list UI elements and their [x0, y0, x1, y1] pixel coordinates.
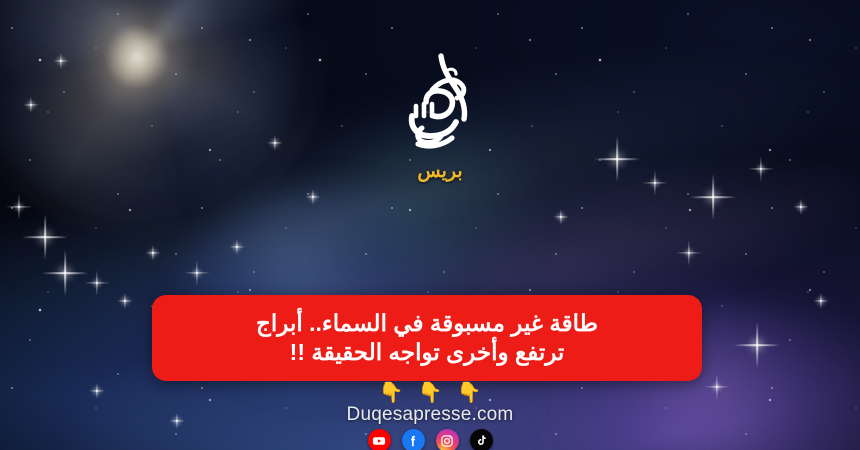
- bright-star: [30, 104, 32, 106]
- headline-line-2: ترتفع وأخرى تواجه الحقيقة !!: [290, 338, 565, 367]
- bright-star: [152, 252, 154, 254]
- bright-star: [756, 344, 758, 346]
- facebook-icon: [406, 434, 420, 448]
- social-link-instagram[interactable]: [436, 429, 459, 450]
- headline-line-1: طاقة غير مسبوقة في السماء.. أبراج: [256, 309, 598, 338]
- bright-star: [616, 158, 618, 160]
- bright-star: [60, 60, 62, 62]
- pointing-down-icon: 👇: [418, 383, 443, 403]
- bright-star: [712, 196, 714, 198]
- footer: 👇 👇 👇 Duqesapresse.com: [0, 383, 860, 450]
- pointing-down-hands: 👇 👇 👇: [379, 383, 482, 403]
- bright-star: [654, 182, 656, 184]
- bright-star: [96, 282, 98, 284]
- bright-star: [820, 300, 822, 302]
- bright-star: [18, 206, 20, 208]
- social-link-tiktok[interactable]: [470, 429, 493, 450]
- social-links: [368, 429, 493, 450]
- tiktok-icon: [475, 434, 488, 447]
- pointing-down-icon: 👇: [456, 383, 481, 403]
- instagram-icon: [440, 434, 454, 448]
- logo-subtitle: بريس: [392, 160, 488, 183]
- bright-star: [236, 246, 238, 248]
- social-link-youtube[interactable]: [368, 429, 391, 450]
- youtube-icon: [372, 434, 386, 448]
- bright-star: [760, 168, 762, 170]
- headline-banner: طاقة غير مسبوقة في السماء.. أبراج ترتفع …: [152, 295, 702, 381]
- bright-star: [560, 216, 562, 218]
- pointing-down-icon: 👇: [379, 383, 404, 403]
- duqesa-calligraphy-mark: [392, 46, 488, 166]
- bright-star: [312, 196, 314, 198]
- news-card: بريس طاقة غير مسبوقة في السماء.. أبراج ت…: [0, 0, 860, 450]
- bright-star: [274, 142, 276, 144]
- bright-star: [64, 272, 66, 274]
- site-name[interactable]: Duqesapresse.com: [347, 404, 514, 426]
- bright-star: [688, 252, 690, 254]
- social-link-facebook[interactable]: [402, 429, 425, 450]
- bright-star: [44, 236, 46, 238]
- site-logo[interactable]: بريس: [392, 46, 488, 196]
- bright-star: [196, 272, 198, 274]
- bright-star: [800, 206, 802, 208]
- bright-star: [124, 300, 126, 302]
